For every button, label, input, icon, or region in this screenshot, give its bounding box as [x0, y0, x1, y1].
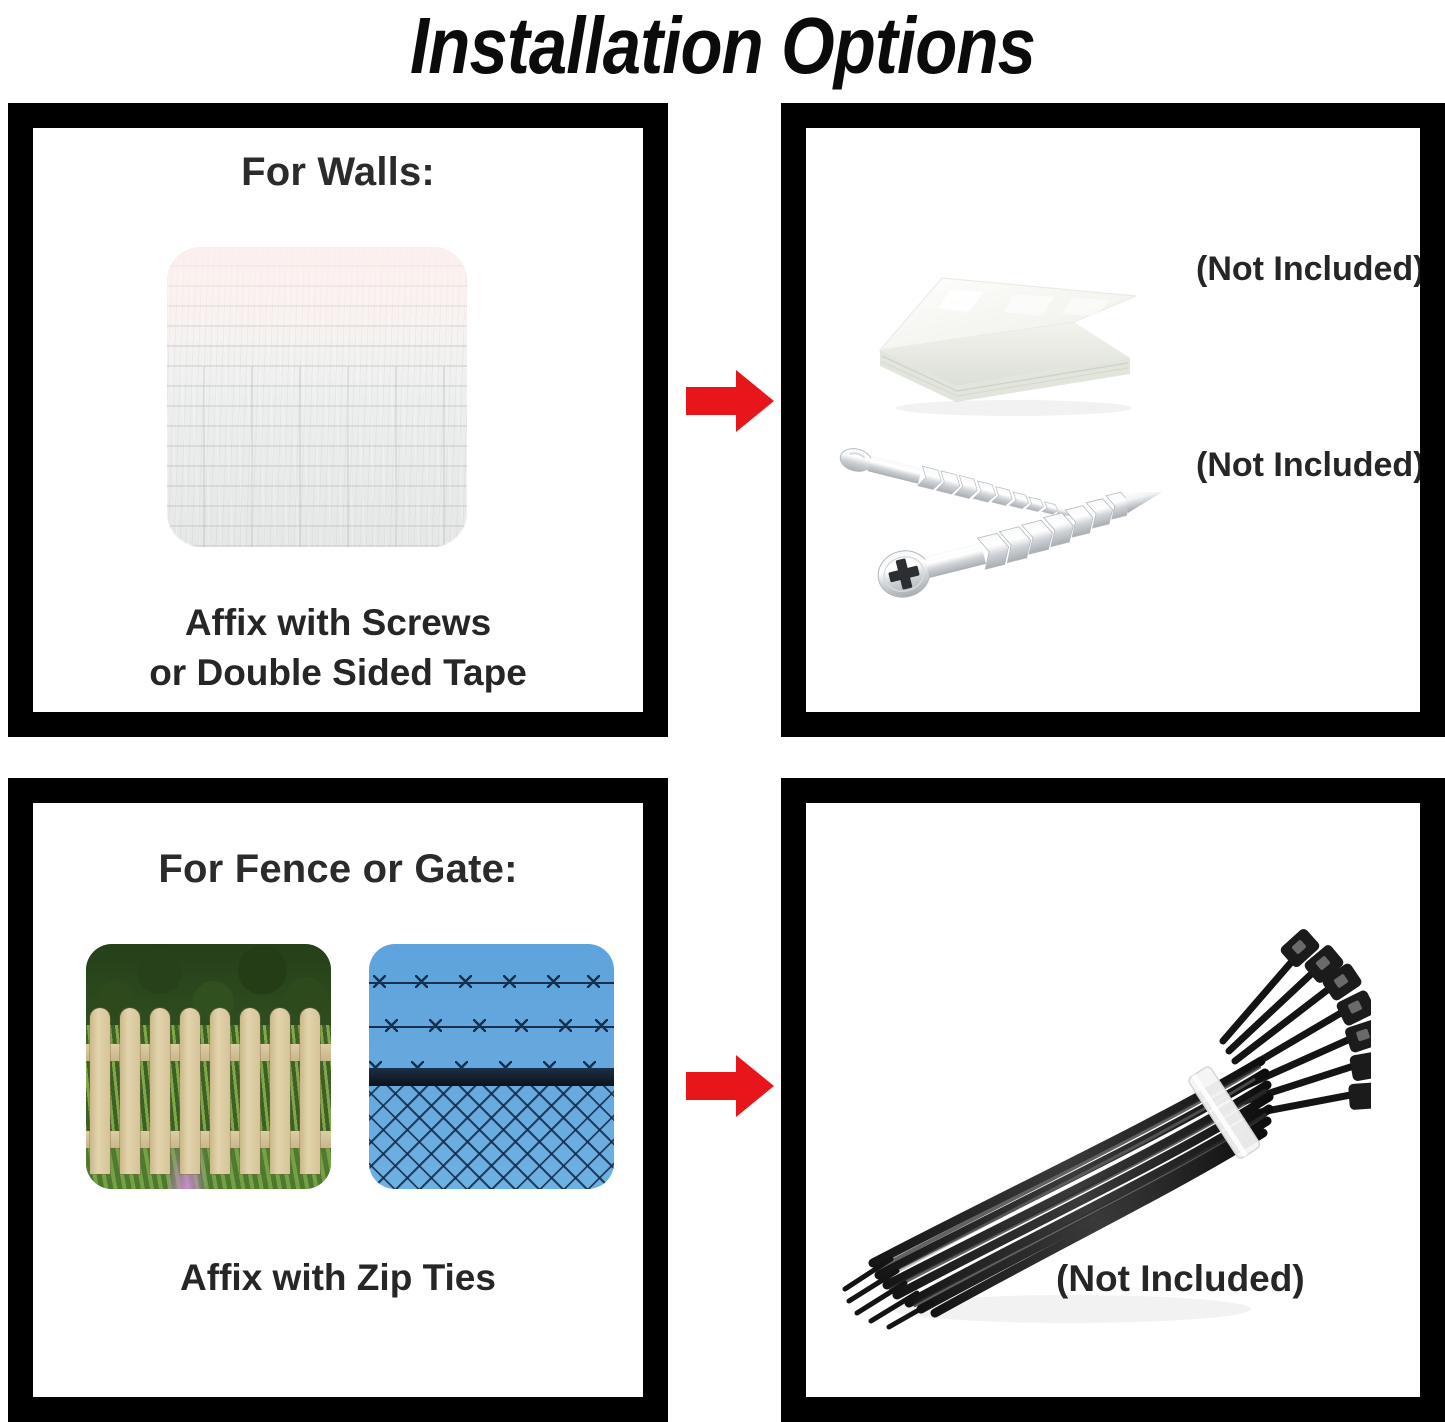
- panel-zip-ties-content: (Not Included): [806, 803, 1420, 1397]
- chain-link-barbed-wire-fence-photo: [369, 944, 614, 1189]
- for-fence-caption: Affix with Zip Ties: [33, 1253, 643, 1303]
- for-walls-heading: For Walls:: [33, 150, 643, 195]
- for-walls-caption: Affix with Screws or Double Sided Tape: [33, 598, 643, 698]
- for-fence-caption-line1: Affix with Zip Ties: [180, 1257, 496, 1298]
- page-title: Installation Options: [101, 0, 1344, 92]
- infographic-root: Installation Options For Walls: Affix wi…: [0, 0, 1445, 1422]
- panel-for-walls: For Walls: Affix with Screws or Double S…: [8, 103, 668, 737]
- red-right-arrow-bottom: [684, 1053, 776, 1119]
- panel-for-fence-or-gate-content: For Fence or Gate:: [33, 803, 643, 1397]
- panel-for-fence-or-gate: For Fence or Gate:: [8, 778, 668, 1422]
- double-sided-tape-stack: [864, 238, 1144, 418]
- panel-zip-ties: (Not Included): [781, 778, 1445, 1422]
- silver-wood-screws: [826, 438, 1186, 618]
- panel-wall-hardware-content: (Not Included): [806, 128, 1420, 712]
- for-fence-heading: For Fence or Gate:: [33, 847, 643, 892]
- tape-not-included-note: (Not Included): [1196, 250, 1420, 289]
- for-walls-caption-line1: Affix with Screws: [185, 602, 491, 643]
- red-right-arrow-top: [684, 368, 776, 434]
- ziptie-not-included-note: (Not Included): [1056, 1258, 1305, 1300]
- screws-not-included-note: (Not Included): [1196, 446, 1420, 485]
- wooden-picket-fence-photo: [86, 944, 331, 1189]
- white-brick-wall-swatch: [167, 247, 467, 547]
- for-walls-caption-line2: or Double Sided Tape: [33, 648, 643, 698]
- panel-for-walls-content: For Walls: Affix with Screws or Double S…: [33, 128, 643, 712]
- panel-wall-hardware: (Not Included): [781, 103, 1445, 737]
